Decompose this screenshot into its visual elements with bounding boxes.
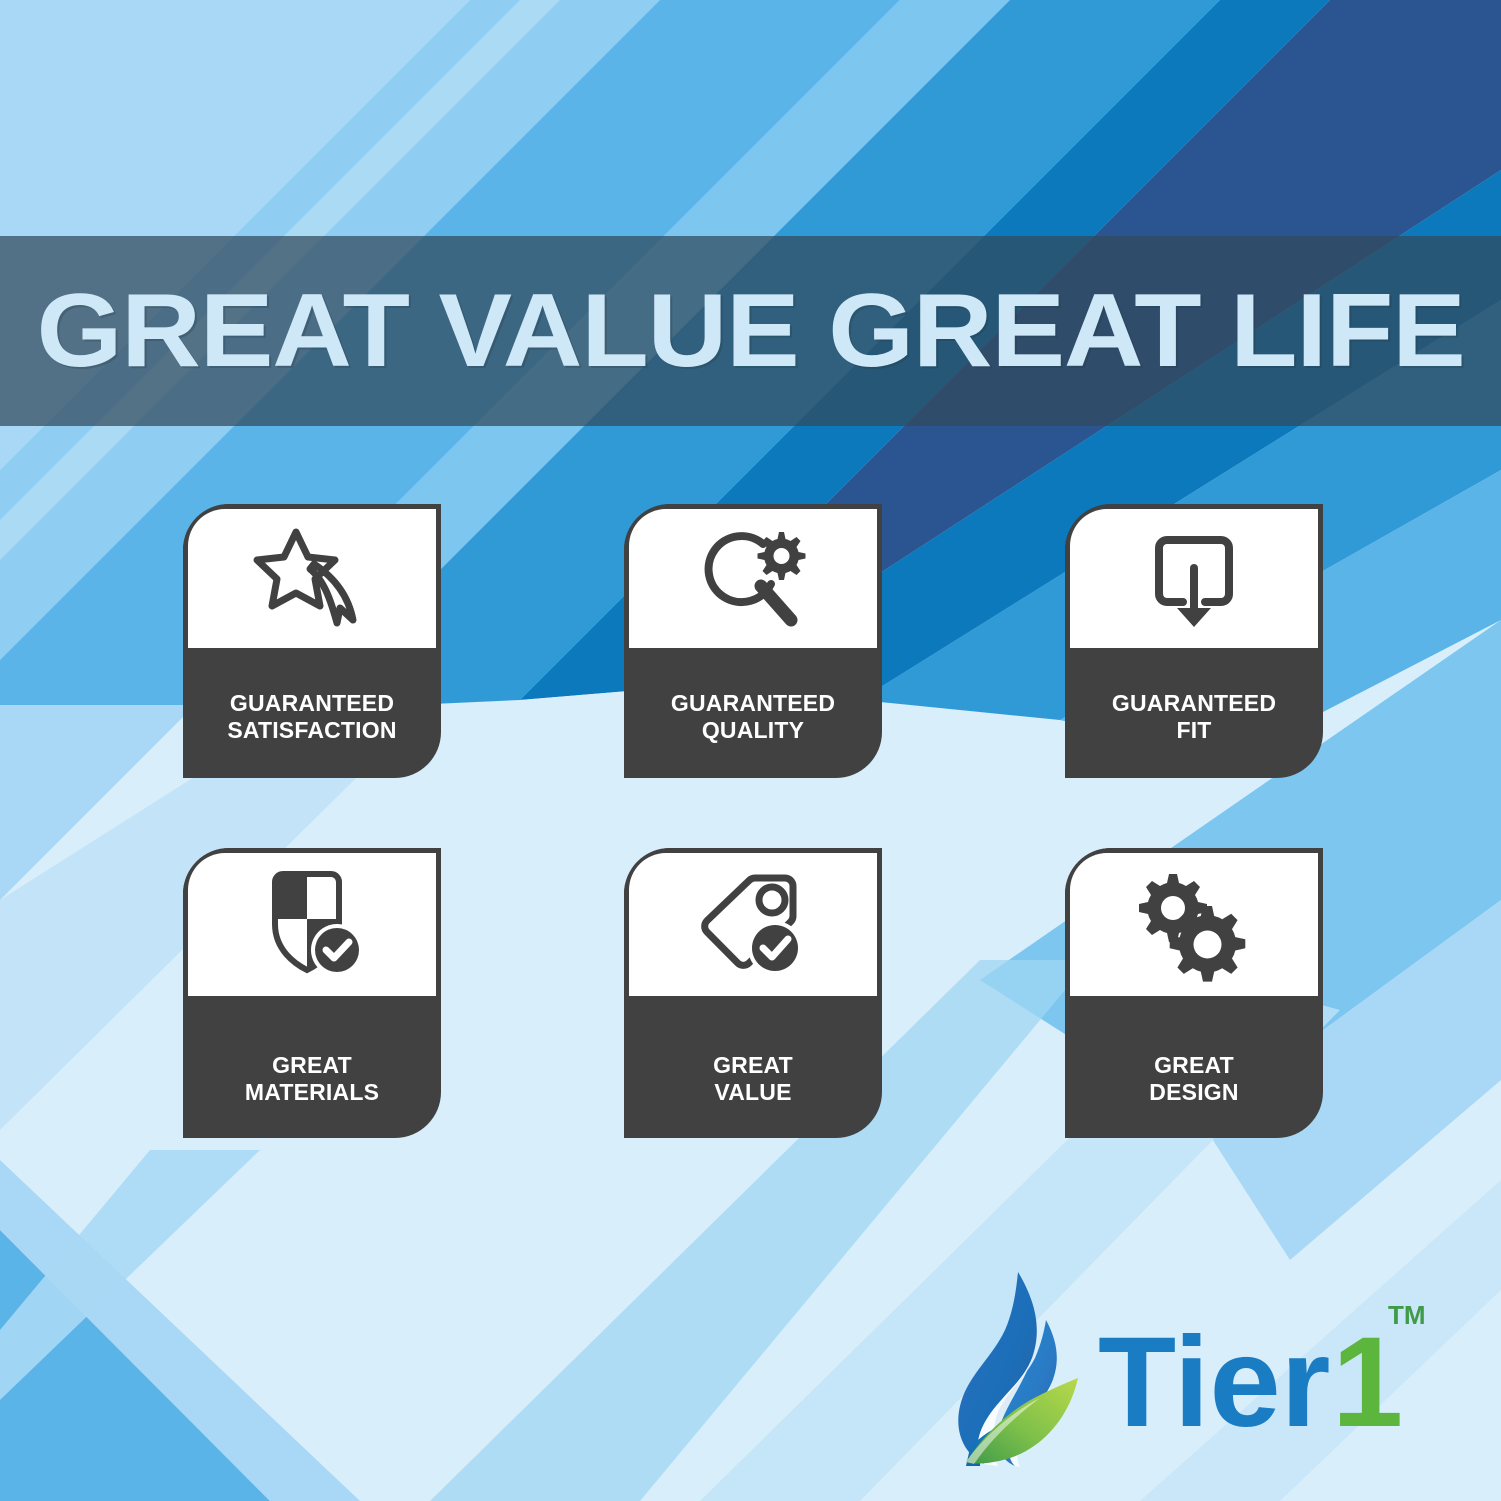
card-label: GUARANTEED SATISFACTION [183, 648, 441, 778]
page-title: GREAT VALUE GREAT LIFE [36, 279, 1464, 383]
card-label-line2: MATERIALS [183, 1079, 441, 1106]
shield-check-icon [253, 868, 371, 982]
trademark-symbol: TM [1388, 1300, 1426, 1330]
headline-banner: GREAT VALUE GREAT LIFE [0, 236, 1501, 426]
card-icon-area [1065, 504, 1323, 648]
logo-wordmark-tier: Tier [1098, 1311, 1330, 1454]
tier1-logo-svg: Tier 1 TM [950, 1258, 1450, 1478]
card-label-line1: GUARANTEED [1112, 690, 1276, 716]
poster-canvas: GREAT VALUE GREAT LIFE GUARANTEED SATISF… [0, 0, 1501, 1501]
price-tag-check-icon [693, 868, 813, 982]
card-icon-area [624, 504, 882, 648]
card-label-line2: VALUE [624, 1079, 882, 1106]
shooting-star-icon [252, 524, 372, 634]
card-label: GUARANTEED FIT [1065, 648, 1323, 778]
feature-card-guaranteed-satisfaction[interactable]: GUARANTEED SATISFACTION [183, 504, 441, 778]
card-label-line1: GUARANTEED [230, 690, 394, 716]
card-label-line2: QUALITY [624, 717, 882, 744]
gears-icon [1133, 868, 1255, 982]
feature-card-great-design[interactable]: GREAT DESIGN [1065, 848, 1323, 1138]
card-icon-area [1065, 848, 1323, 996]
card-icon-area [624, 848, 882, 996]
card-icon-area [183, 504, 441, 648]
card-label: GREAT MATERIALS [183, 996, 441, 1138]
feature-card-guaranteed-quality[interactable]: GUARANTEED QUALITY [624, 504, 882, 778]
card-label-line2: FIT [1065, 717, 1323, 744]
card-label: GREAT VALUE [624, 996, 882, 1138]
card-label-line1: GUARANTEED [671, 690, 835, 716]
feature-card-great-materials[interactable]: GREAT MATERIALS [183, 848, 441, 1138]
card-label-line1: GREAT [713, 1052, 793, 1078]
card-icon-area [183, 848, 441, 996]
card-label-line2: SATISFACTION [183, 717, 441, 744]
card-label: GUARANTEED QUALITY [624, 648, 882, 778]
tier1-logo[interactable]: Tier 1 TM [950, 1258, 1450, 1478]
feature-card-grid: GUARANTEED SATISFACTION GUARANTEED [183, 504, 1333, 1138]
download-into-box-icon [1139, 524, 1249, 634]
card-label-line1: GREAT [1154, 1052, 1234, 1078]
feature-card-great-value[interactable]: GREAT VALUE [624, 848, 882, 1138]
magnifier-gear-icon [693, 524, 813, 634]
card-label-line2: DESIGN [1065, 1079, 1323, 1106]
card-label-line1: GREAT [272, 1052, 352, 1078]
logo-wordmark-one: 1 [1332, 1311, 1403, 1454]
feature-card-guaranteed-fit[interactable]: GUARANTEED FIT [1065, 504, 1323, 778]
card-label: GREAT DESIGN [1065, 996, 1323, 1138]
